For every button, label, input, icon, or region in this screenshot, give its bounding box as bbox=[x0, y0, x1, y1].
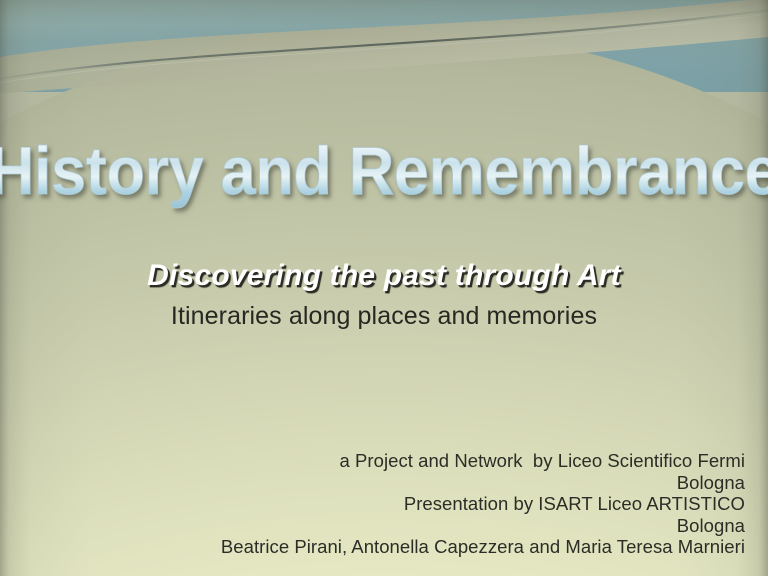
subtitle-container: Discovering the past through Art Itinera… bbox=[0, 258, 768, 332]
title-text: History and Remembrance bbox=[0, 133, 768, 209]
credit-line-project: a Project and Network by Liceo Scientifi… bbox=[23, 450, 745, 472]
title-container: History and Remembrance bbox=[0, 132, 768, 216]
credit-line-city-1: Bologna bbox=[23, 472, 745, 494]
credit-line-authors: Beatrice Pirani, Antonella Capezzera and… bbox=[23, 536, 745, 558]
subtitle-main: Discovering the past through Art bbox=[0, 258, 768, 294]
slide-title: History and Remembrance bbox=[14, 132, 754, 216]
credits-block: a Project and Network by Liceo Scientifi… bbox=[23, 450, 745, 558]
credit-line-presentation: Presentation by ISART Liceo ARTISTICO bbox=[23, 493, 745, 515]
subtitle-secondary: Itineraries along places and memories bbox=[0, 300, 768, 332]
credit-line-city-2: Bologna bbox=[23, 515, 745, 537]
presentation-slide: History and Remembrance Discovering the … bbox=[0, 0, 768, 576]
